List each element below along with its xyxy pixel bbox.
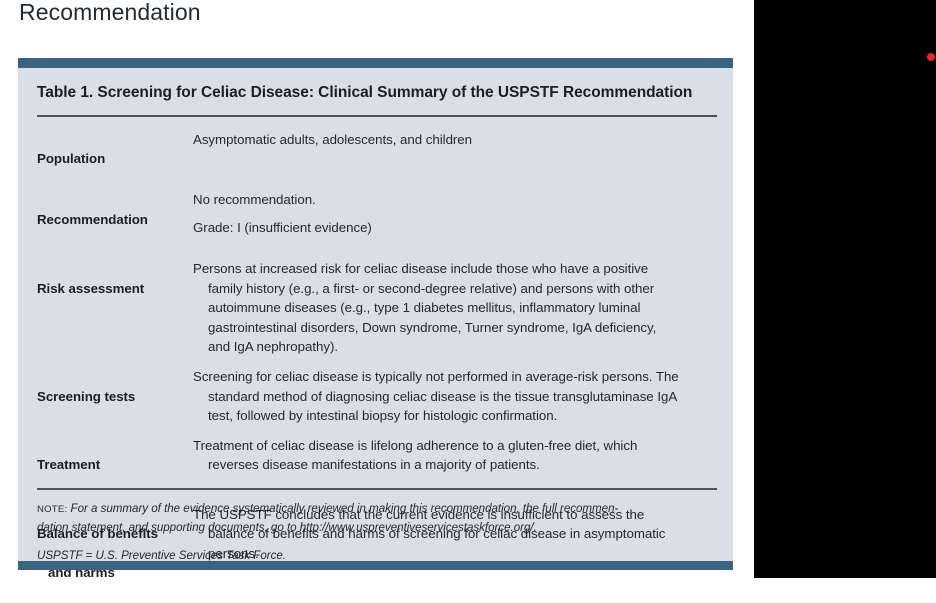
value-line: Screening for celiac disease is typicall… bbox=[193, 367, 705, 387]
value-line: autoimmune diseases (e.g., type 1 diabet… bbox=[193, 298, 705, 318]
row-value-recommendation: No recommendation. Grade: I (insufficien… bbox=[193, 190, 705, 237]
footnote-divider bbox=[37, 488, 717, 490]
value-line: test, followed by intestinal biopsy for … bbox=[193, 406, 705, 426]
row-label-text: Risk assessment bbox=[37, 279, 193, 299]
table-top-accent-bar bbox=[18, 58, 733, 68]
table-row: Screening tests Screening for celiac dis… bbox=[37, 367, 714, 426]
document-page: Recommendation Table 1. Screening for Ce… bbox=[0, 0, 754, 578]
value-line: reverses disease manifestations in a maj… bbox=[193, 455, 705, 475]
table-row: Recommendation No recommendation. Grade:… bbox=[37, 190, 714, 249]
row-label-population: Population bbox=[37, 130, 193, 189]
value-line: Persons at increased risk for celiac dis… bbox=[193, 259, 705, 279]
row-label-text: Treatment bbox=[37, 455, 193, 475]
row-label-screening-tests: Screening tests bbox=[37, 367, 193, 426]
row-label-recommendation: Recommendation bbox=[37, 190, 193, 249]
value-line: Treatment of celiac disease is lifelong … bbox=[193, 436, 705, 456]
table-row: Population Asymptomatic adults, adolesce… bbox=[37, 130, 714, 189]
value-line: Asymptomatic adults, adolescents, and ch… bbox=[193, 130, 705, 150]
table-footnotes: NOTE: For a summary of the evidence syst… bbox=[37, 488, 714, 565]
value-line-grade: Grade: I (insufficient evidence) bbox=[193, 218, 705, 238]
value-line: gastrointestinal disorders, Down syndrom… bbox=[193, 318, 705, 338]
table-row: Risk assessment Persons at increased ris… bbox=[37, 259, 714, 357]
value-line: family history (e.g., a first- or second… bbox=[193, 279, 705, 299]
title-divider bbox=[37, 115, 717, 117]
note-text: NOTE: For a summary of the evidence syst… bbox=[37, 500, 714, 536]
row-label-treatment: Treatment bbox=[37, 436, 193, 495]
row-label-risk-assessment: Risk assessment bbox=[37, 259, 193, 318]
table-row: Treatment Treatment of celiac disease is… bbox=[37, 436, 714, 495]
row-value-population: Asymptomatic adults, adolescents, and ch… bbox=[193, 130, 705, 150]
note-line2: dation statement, and supporting documen… bbox=[37, 521, 537, 534]
table-card-inner: Table 1. Screening for Celiac Disease: C… bbox=[18, 68, 733, 580]
row-value-treatment: Treatment of celiac disease is lifelong … bbox=[193, 436, 705, 475]
value-line: No recommendation. bbox=[193, 190, 705, 210]
row-value-screening-tests: Screening for celiac disease is typicall… bbox=[193, 367, 705, 426]
note-label: NOTE: bbox=[37, 504, 67, 515]
cursor-marker-dot bbox=[927, 53, 935, 61]
value-line: and IgA nephropathy). bbox=[193, 337, 705, 357]
value-line: standard method of diagnosing celiac dis… bbox=[193, 387, 705, 407]
table-bottom-accent-bar bbox=[18, 561, 733, 570]
note-line1: For a summary of the evidence systematic… bbox=[67, 502, 618, 515]
row-label-text: Population bbox=[37, 149, 193, 169]
table-title: Table 1. Screening for Celiac Disease: C… bbox=[37, 68, 697, 104]
row-label-text: Recommendation bbox=[37, 210, 193, 230]
row-value-risk-assessment: Persons at increased risk for celiac dis… bbox=[193, 259, 705, 357]
row-label-text: Screening tests bbox=[37, 387, 193, 407]
table-card: Table 1. Screening for Celiac Disease: C… bbox=[18, 58, 733, 570]
page-section-heading: Recommendation bbox=[19, 0, 201, 27]
viewer-backdrop bbox=[754, 0, 936, 578]
